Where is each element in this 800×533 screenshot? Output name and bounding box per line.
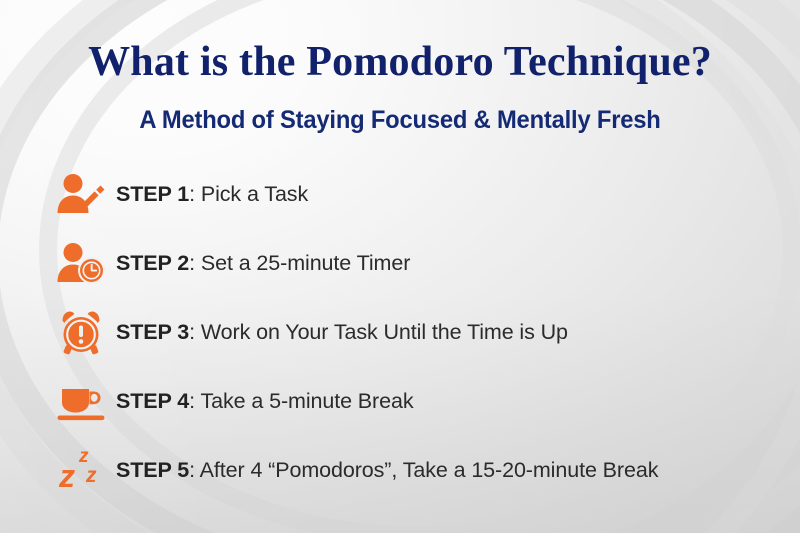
list-item: STEP 1: Pick a Task xyxy=(0,160,800,229)
step-separator: : xyxy=(189,251,201,275)
step-label: STEP 2 xyxy=(116,251,189,275)
alarm-clock-icon xyxy=(52,307,110,359)
step-description: Set a 25-minute Timer xyxy=(201,251,410,275)
coffee-cup-icon xyxy=(52,376,110,428)
step-label: STEP 5 xyxy=(116,458,189,482)
person-clock-icon xyxy=(52,238,110,290)
svg-text:z: z xyxy=(85,464,97,487)
step-label: STEP 4 xyxy=(116,389,189,413)
step-text: STEP 2: Set a 25-minute Timer xyxy=(116,251,410,276)
list-item: z z z STEP 5: After 4 “Pomodoros”, Take … xyxy=(0,436,800,505)
infographic-slide: What is the Pomodoro Technique? A Method… xyxy=(0,0,800,533)
step-description: Pick a Task xyxy=(201,182,308,206)
page-title: What is the Pomodoro Technique? xyxy=(0,38,800,86)
list-item: STEP 2: Set a 25-minute Timer xyxy=(0,229,800,298)
step-text: STEP 3: Work on Your Task Until the Time… xyxy=(116,320,568,345)
step-description: After 4 “Pomodoros”, Take a 15-20-minute… xyxy=(200,458,659,482)
list-item: STEP 4: Take a 5-minute Break xyxy=(0,367,800,436)
page-subtitle: A Method of Staying Focused & Mentally F… xyxy=(20,106,780,135)
step-separator: : xyxy=(189,320,201,344)
step-separator: : xyxy=(189,182,201,206)
steps-list: STEP 1: Pick a Task xyxy=(0,160,800,505)
step-text: STEP 4: Take a 5-minute Break xyxy=(116,389,413,414)
step-description: Work on Your Task Until the Time is Up xyxy=(201,320,568,344)
list-item: STEP 3: Work on Your Task Until the Time… xyxy=(0,298,800,367)
svg-text:z: z xyxy=(58,458,75,494)
step-text: STEP 5: After 4 “Pomodoros”, Take a 15-2… xyxy=(116,458,658,483)
step-label: STEP 3 xyxy=(116,320,189,344)
step-label: STEP 1 xyxy=(116,182,189,206)
sleep-zzz-icon: z z z xyxy=(52,445,110,497)
step-separator: : xyxy=(189,458,200,482)
person-pencil-icon xyxy=(52,169,110,221)
step-separator: : xyxy=(189,389,200,413)
step-description: Take a 5-minute Break xyxy=(200,389,413,413)
step-text: STEP 1: Pick a Task xyxy=(116,182,308,207)
slide-content: What is the Pomodoro Technique? A Method… xyxy=(0,0,800,533)
